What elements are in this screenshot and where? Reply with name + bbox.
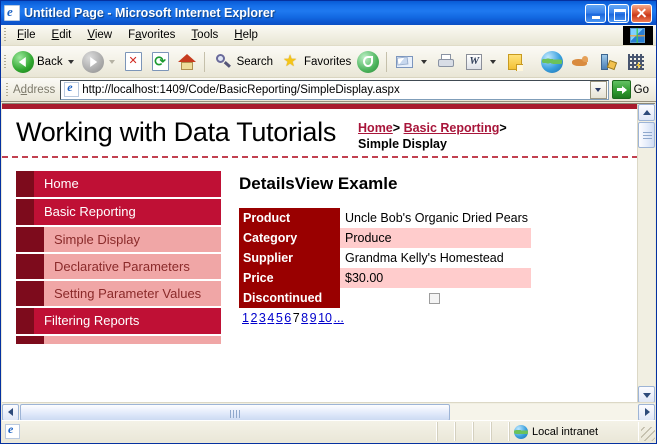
edit-button[interactable] bbox=[460, 49, 501, 75]
forward-dropdown-icon[interactable] bbox=[109, 60, 115, 64]
sidebar-item-basic-reporting[interactable]: Basic Reporting bbox=[16, 199, 221, 225]
pager-link-1[interactable]: 1 bbox=[242, 311, 249, 325]
notes-button[interactable] bbox=[501, 49, 529, 75]
back-label: Back bbox=[37, 56, 63, 68]
menu-grip[interactable] bbox=[1, 25, 9, 45]
breadcrumb: Home> Basic Reporting> Simple Display bbox=[358, 115, 507, 152]
breadcrumb-current: Simple Display bbox=[358, 137, 447, 151]
field-value-supplier: Grandma Kelly's Homestead bbox=[340, 248, 531, 268]
breadcrumb-link-basic-reporting[interactable]: Basic Reporting bbox=[404, 121, 500, 135]
notes-icon bbox=[504, 51, 526, 73]
nav-accent-bar bbox=[16, 171, 34, 197]
content-heading: DetailsView Examle bbox=[239, 174, 638, 194]
address-dropdown-button[interactable] bbox=[590, 81, 607, 99]
pager-link-more[interactable]: ... bbox=[333, 311, 343, 325]
pager-link-9[interactable]: 9 bbox=[310, 311, 317, 325]
search-icon bbox=[212, 51, 234, 73]
encoding-icon bbox=[625, 51, 647, 73]
status-message-area bbox=[2, 422, 437, 441]
globe-button[interactable] bbox=[538, 49, 566, 75]
favorites-label: Favorites bbox=[304, 56, 351, 68]
chevron-down-icon bbox=[595, 88, 601, 92]
sidebar-nav: Home Basic Reporting Simple Display bbox=[2, 158, 221, 346]
table-row: Category Produce bbox=[239, 228, 531, 248]
sidebar-subitem-label: Declarative Parameters bbox=[44, 254, 221, 279]
print-icon bbox=[435, 51, 457, 73]
encoding-button[interactable] bbox=[622, 49, 650, 75]
edit-dropdown-icon[interactable] bbox=[490, 60, 496, 64]
vertical-scroll-thumb[interactable] bbox=[638, 122, 655, 148]
maximize-button[interactable] bbox=[608, 4, 629, 23]
sidebar-item-filtering-reports[interactable]: Filtering Reports bbox=[16, 308, 221, 334]
menu-favorites[interactable]: Favorites bbox=[120, 27, 183, 43]
sidebar-item-home[interactable]: Home bbox=[16, 171, 221, 197]
go-arrow-icon bbox=[612, 80, 631, 99]
nav-accent-bar bbox=[16, 308, 34, 334]
web-page-content: Working with Data Tutorials Home> Basic … bbox=[2, 104, 638, 403]
sidebar-item-label: Filtering Reports bbox=[34, 308, 221, 334]
menu-edit[interactable]: Edit bbox=[44, 27, 80, 43]
address-url-text: http://localhost:1409/Code/BasicReportin… bbox=[82, 84, 589, 96]
fox-button[interactable] bbox=[566, 49, 594, 75]
sidebar-item-setting-parameter-values[interactable]: Setting Parameter Values bbox=[16, 281, 221, 306]
address-label: Address bbox=[11, 84, 60, 96]
field-value-price: $30.00 bbox=[340, 268, 531, 288]
go-label: Go bbox=[634, 84, 649, 96]
globe-icon bbox=[514, 425, 528, 439]
back-dropdown-icon[interactable] bbox=[68, 60, 74, 64]
status-slot-4 bbox=[491, 422, 509, 441]
nav-accent-bar bbox=[16, 227, 44, 252]
address-grip[interactable] bbox=[3, 78, 11, 101]
favorites-star-icon bbox=[279, 51, 301, 73]
globe-icon bbox=[541, 51, 563, 73]
sidebar-item-declarative-parameters[interactable]: Declarative Parameters bbox=[16, 254, 221, 279]
media-button[interactable] bbox=[354, 49, 382, 75]
back-icon bbox=[12, 51, 34, 73]
menu-file[interactable]: File bbox=[9, 27, 44, 43]
scroll-right-button[interactable] bbox=[638, 404, 655, 421]
minimize-button[interactable] bbox=[585, 4, 606, 23]
mail-icon bbox=[394, 51, 416, 73]
forward-button[interactable] bbox=[79, 49, 120, 75]
search-label: Search bbox=[237, 56, 273, 68]
menu-help[interactable]: Help bbox=[226, 27, 266, 43]
toolbar-grip[interactable] bbox=[1, 46, 9, 77]
refresh-button[interactable] bbox=[147, 50, 174, 73]
address-bar: Address http://localhost:1409/Code/Basic… bbox=[1, 78, 656, 102]
field-label-supplier: Supplier bbox=[239, 248, 340, 268]
main-content: DetailsView Examle Product Uncle Bob's O… bbox=[221, 158, 638, 328]
caption-buttons bbox=[585, 4, 654, 23]
close-button[interactable] bbox=[631, 4, 652, 23]
scroll-left-button[interactable] bbox=[2, 404, 19, 421]
page-viewport: Working with Data Tutorials Home> Basic … bbox=[2, 103, 655, 403]
messenger-icon bbox=[597, 51, 619, 73]
menu-tools[interactable]: Tools bbox=[183, 27, 226, 43]
table-row: Supplier Grandma Kelly's Homestead bbox=[239, 248, 531, 268]
breadcrumb-separator-2: > bbox=[499, 121, 506, 135]
back-button[interactable]: Back bbox=[9, 49, 79, 75]
ie-document-icon bbox=[4, 5, 20, 21]
sidebar-item-partial[interactable] bbox=[16, 336, 221, 344]
messenger-button[interactable] bbox=[594, 49, 622, 75]
home-icon bbox=[177, 53, 197, 71]
refresh-icon bbox=[152, 52, 169, 71]
pager-row: 12345678910... bbox=[239, 308, 531, 328]
pager-link-6[interactable]: 6 bbox=[284, 311, 291, 325]
media-icon bbox=[357, 51, 379, 73]
mail-button[interactable] bbox=[391, 49, 432, 75]
sidebar-item-label: Basic Reporting bbox=[34, 199, 221, 225]
status-slot-2 bbox=[455, 422, 473, 441]
window-title: Untitled Page - Microsoft Internet Explo… bbox=[24, 6, 585, 20]
status-bar: Local intranet bbox=[2, 420, 655, 442]
resize-grip[interactable] bbox=[639, 422, 655, 441]
stop-icon bbox=[125, 52, 142, 71]
nav-accent-bar bbox=[16, 199, 34, 225]
sidebar-subitem-label bbox=[44, 336, 221, 344]
field-value-category: Produce bbox=[340, 228, 531, 248]
field-label-category: Category bbox=[239, 228, 340, 248]
breadcrumb-separator-1: > bbox=[393, 121, 400, 135]
ie-status-icon bbox=[5, 424, 20, 439]
sidebar-subitem-label: Simple Display bbox=[44, 227, 221, 252]
sidebar-item-label: Home bbox=[34, 171, 221, 197]
scroll-down-button[interactable] bbox=[638, 386, 655, 403]
menu-view[interactable]: View bbox=[79, 27, 120, 43]
pager-cell: 12345678910... bbox=[239, 308, 531, 328]
forward-icon bbox=[82, 51, 104, 73]
scroll-up-button[interactable] bbox=[638, 104, 655, 121]
table-row: Price $30.00 bbox=[239, 268, 531, 288]
toolbar-separator-2 bbox=[386, 52, 387, 72]
discontinued-checkbox bbox=[429, 293, 440, 304]
nav-accent-bar bbox=[16, 336, 44, 344]
sidebar-subitem-label: Setting Parameter Values bbox=[44, 281, 221, 306]
field-value-product: Uncle Bob's Organic Dried Pears bbox=[340, 208, 531, 228]
ie-brand-logo bbox=[623, 26, 653, 45]
horizontal-scroll-thumb[interactable] bbox=[20, 404, 450, 421]
table-row: Discontinued bbox=[239, 288, 531, 308]
sidebar-item-simple-display[interactable]: Simple Display bbox=[16, 227, 221, 252]
pager-link-8[interactable]: 8 bbox=[301, 311, 308, 325]
menu-bar: File Edit View Favorites Tools Help bbox=[1, 25, 656, 46]
home-button[interactable] bbox=[174, 51, 200, 73]
horizontal-scrollbar[interactable] bbox=[2, 402, 655, 421]
pager-link-4[interactable]: 4 bbox=[267, 311, 274, 325]
site-header: Working with Data Tutorials Home> Basic … bbox=[2, 109, 638, 158]
toolbar-separator bbox=[204, 52, 205, 72]
go-button[interactable]: Go bbox=[609, 80, 654, 99]
title-bar: Untitled Page - Microsoft Internet Explo… bbox=[1, 1, 656, 25]
pager-link-2[interactable]: 2 bbox=[250, 311, 257, 325]
address-input[interactable]: http://localhost:1409/Code/BasicReportin… bbox=[60, 80, 608, 100]
favorites-button[interactable]: Favorites bbox=[276, 49, 354, 75]
edit-word-icon bbox=[463, 51, 485, 73]
security-zone-label: Local intranet bbox=[532, 426, 598, 438]
breadcrumb-link-home[interactable]: Home bbox=[358, 121, 393, 135]
table-row: Product Uncle Bob's Organic Dried Pears bbox=[239, 208, 531, 228]
status-slot-1 bbox=[437, 422, 455, 441]
ie-page-icon bbox=[64, 82, 79, 97]
field-value-discontinued bbox=[340, 288, 531, 308]
pager-link-5[interactable]: 5 bbox=[276, 311, 283, 325]
search-button[interactable]: Search bbox=[209, 49, 276, 75]
horizontal-scroll-track[interactable] bbox=[19, 404, 638, 421]
pager-current-page: 7 bbox=[293, 311, 300, 325]
pager-link-3[interactable]: 3 bbox=[259, 311, 266, 325]
mail-dropdown-icon[interactable] bbox=[421, 60, 427, 64]
field-label-discontinued: Discontinued bbox=[239, 288, 340, 308]
details-view-table: Product Uncle Bob's Organic Dried Pears … bbox=[239, 208, 531, 328]
page-title: Working with Data Tutorials bbox=[16, 115, 336, 149]
browser-window: Untitled Page - Microsoft Internet Explo… bbox=[0, 0, 657, 444]
security-zone[interactable]: Local intranet bbox=[509, 422, 639, 441]
pager-link-10[interactable]: 10 bbox=[318, 311, 332, 325]
status-slot-3 bbox=[473, 422, 491, 441]
field-label-price: Price bbox=[239, 268, 340, 288]
print-button[interactable] bbox=[432, 49, 460, 75]
nav-accent-bar bbox=[16, 281, 44, 306]
nav-accent-bar bbox=[16, 254, 44, 279]
main-toolbar: Back Search Favorites bbox=[1, 46, 656, 78]
fox-icon bbox=[569, 51, 591, 73]
vertical-scrollbar[interactable] bbox=[637, 104, 655, 403]
stop-button[interactable] bbox=[120, 50, 147, 73]
field-label-product: Product bbox=[239, 208, 340, 228]
